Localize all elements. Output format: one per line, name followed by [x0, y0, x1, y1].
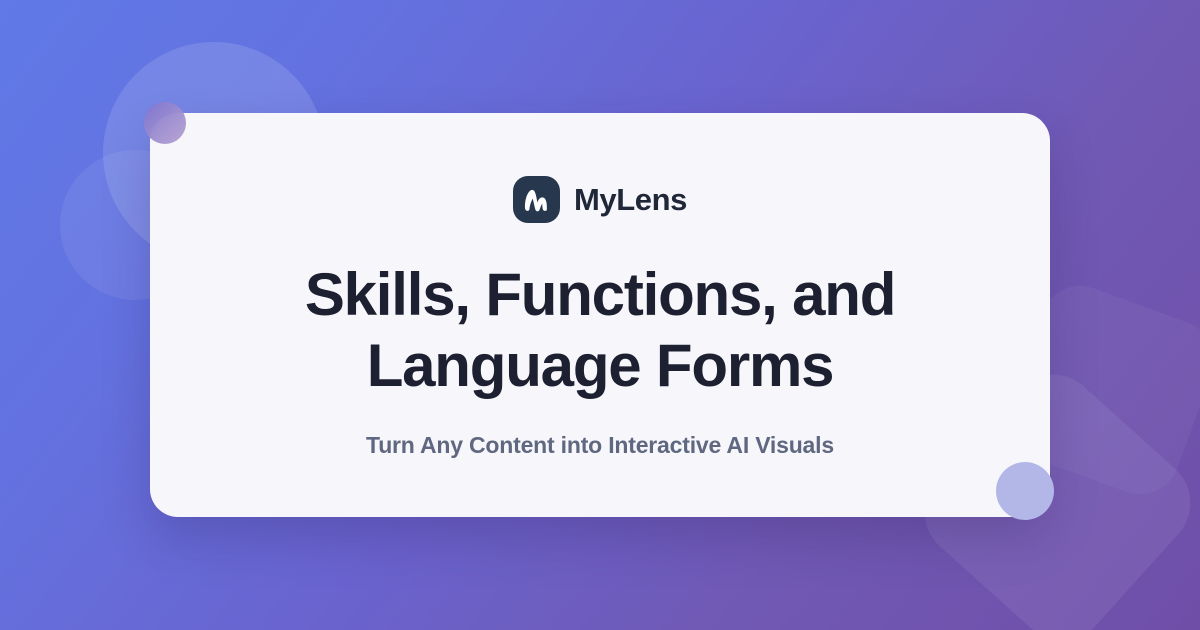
- page-subtitle: Turn Any Content into Interactive AI Vis…: [366, 432, 834, 459]
- brand-name: MyLens: [574, 184, 687, 215]
- page-title: Skills, Functions, and Language Forms: [220, 259, 980, 402]
- hero-card: MyLens Skills, Functions, and Language F…: [150, 113, 1050, 517]
- mylens-mountain-logo-icon: [513, 176, 560, 223]
- page-title-line-1: Skills, Functions, and: [220, 259, 980, 330]
- brand-lockup: MyLens: [513, 175, 687, 223]
- page-title-line-2: Language Forms: [220, 330, 980, 401]
- social-card-canvas: MyLens Skills, Functions, and Language F…: [0, 0, 1200, 630]
